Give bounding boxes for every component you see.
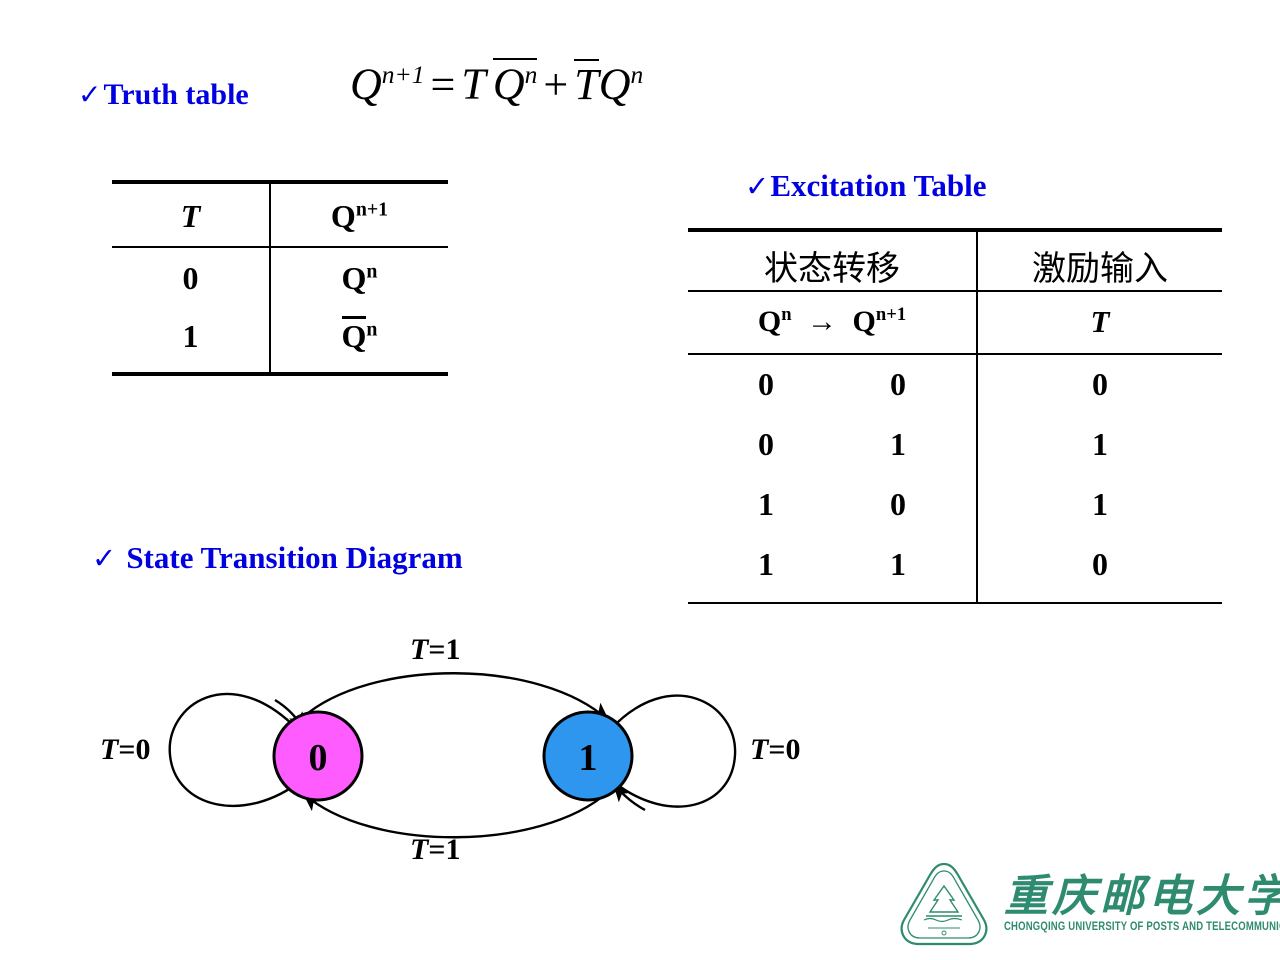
equation-term1-exponent: n xyxy=(525,60,538,89)
excitation-table-top-rule xyxy=(688,228,1222,232)
truth-table-header-qnext-base: Q xyxy=(331,198,356,234)
excitation-row-0-qnext: 0 xyxy=(838,366,958,403)
equation-term2-base: Q xyxy=(599,60,631,109)
slide-canvas: ✓Truth table Qn+1=TQn+TQn T Qn+1 0 Qn 1 … xyxy=(0,0,1280,960)
edge-label-self-loop-left: T=0 xyxy=(100,733,150,767)
truth-table-row-0-qnext-exponent: n xyxy=(366,260,377,282)
truth-table-header-qnext: Qn+1 xyxy=(271,198,448,235)
edge-label-bottom-eq: = xyxy=(428,833,445,866)
edge-label-left-var: T xyxy=(100,733,118,766)
excitation-row-2-t: 1 xyxy=(978,486,1222,523)
edge-label-self-loop-right: T=0 xyxy=(750,733,800,767)
truth-table-row-1-qnext-overline-group: Q xyxy=(342,316,367,352)
edge-label-bottom-val: 1 xyxy=(445,833,460,866)
equation-equals: = xyxy=(425,60,462,109)
excitation-row-1-qn: 0 xyxy=(706,426,826,463)
equation-plus: + xyxy=(537,60,574,109)
edge-label-top-var: T xyxy=(410,633,428,666)
equation-term1-overline-group: Qn xyxy=(493,58,538,107)
excitation-row-1-t: 1 xyxy=(978,426,1222,463)
truth-table-header-qnext-exponent: n+1 xyxy=(356,198,388,220)
excitation-table-bottom-rule xyxy=(688,602,1222,604)
edge-label-top-val: 1 xyxy=(445,633,460,666)
checkmark-icon: ✓ xyxy=(92,541,116,575)
truth-table-row-0-t: 0 xyxy=(112,260,269,297)
logo-english-name: CHONGQING UNIVERSITY OF POSTS AND TELECO… xyxy=(1004,920,1280,934)
edge-label-right-var: T xyxy=(750,733,768,766)
state-node-0-label: 0 xyxy=(309,737,328,779)
checkmark-icon: ✓ xyxy=(78,78,101,111)
checkmark-icon: ✓ xyxy=(745,169,769,203)
state-node-1-label: 1 xyxy=(579,737,598,779)
excitation-table-sub-header-rule xyxy=(688,353,1222,355)
edge-label-left-eq: = xyxy=(118,733,135,766)
excitation-row-3-t: 0 xyxy=(978,546,1222,583)
excitation-sub-to-base: Q xyxy=(853,305,876,338)
heading-excitation-table: ✓Excitation Table xyxy=(745,168,987,204)
heading-truth-table-label: Truth table xyxy=(103,78,248,111)
excitation-sub-from-base: Q xyxy=(758,305,781,338)
equation-q-next: Qn+1=TQn+TQn xyxy=(350,60,643,107)
truth-table-header-rule xyxy=(112,246,448,248)
excitation-sub-to-exponent: n+1 xyxy=(876,304,906,325)
excitation-row-0-t: 0 xyxy=(978,366,1222,403)
equation-term1-factor: T xyxy=(461,60,485,109)
edge-label-right-val: 0 xyxy=(785,733,800,766)
truth-table: T Qn+1 0 Qn 1 Qn xyxy=(112,180,448,378)
university-logo: 重庆邮电大学 CHONGQING UNIVERSITY OF POSTS AND… xyxy=(892,858,1262,956)
excitation-row-2-qnext: 0 xyxy=(838,486,958,523)
logo-emblem-icon xyxy=(892,858,996,952)
edge-label-left-val: 0 xyxy=(135,733,150,766)
truth-table-row-1-t: 1 xyxy=(112,318,269,355)
excitation-table-sub-header-transition: Qn → Qn+1 xyxy=(688,304,976,339)
excitation-table-group-header-left: 状态转移 xyxy=(688,241,976,290)
excitation-sub-from-exponent: n xyxy=(781,304,791,325)
truth-table-row-1-qnext-exponent: n xyxy=(366,318,377,340)
state-transition-diagram: 0 1 T=0 T=1 T=1 T=0 xyxy=(70,620,830,880)
heading-excitation-table-label: Excitation Table xyxy=(770,168,986,203)
excitation-row-3-qn: 1 xyxy=(706,546,826,583)
truth-table-row-0-qnext-base: Q xyxy=(342,260,367,296)
transition-arc-0-to-1 xyxy=(302,673,608,720)
equation-term1-base: Q xyxy=(493,60,525,109)
arrow-right-icon: → xyxy=(799,305,845,338)
truth-table-top-rule xyxy=(112,180,448,184)
heading-state-transition-diagram-label: State Transition Diagram xyxy=(126,540,462,575)
edge-label-bottom-var: T xyxy=(410,833,428,866)
edge-label-top-eq: = xyxy=(428,633,445,666)
excitation-table-group-header-right: 激励输入 xyxy=(978,241,1222,290)
excitation-table-sub-header-t: T xyxy=(978,304,1222,340)
excitation-row-0-qn: 0 xyxy=(706,366,826,403)
truth-table-bottom-rule xyxy=(112,372,448,376)
edge-label-right-eq: = xyxy=(768,733,785,766)
truth-table-row-0-qnext: Qn xyxy=(271,260,448,297)
excitation-row-2-qn: 1 xyxy=(706,486,826,523)
truth-table-row-1-qnext: Qn xyxy=(271,316,448,355)
equation-term2-overline-group: T xyxy=(574,59,598,107)
excitation-table: 状态转移 激励输入 Qn → Qn+1 T 0 0 0 0 1 1 1 0 1 … xyxy=(688,228,1222,606)
truth-table-header-t: T xyxy=(112,198,269,235)
edge-label-arc-bottom: T=1 xyxy=(410,833,460,867)
equation-lhs-exponent: n+1 xyxy=(382,60,425,89)
transition-arc-1-to-0 xyxy=(304,792,608,837)
heading-state-transition-diagram: ✓State Transition Diagram xyxy=(92,540,463,576)
excitation-row-3-qnext: 1 xyxy=(838,546,958,583)
equation-term2-exponent: n xyxy=(630,60,643,89)
excitation-table-group-header-rule xyxy=(688,290,1222,292)
truth-table-row-1-qnext-base: Q xyxy=(342,318,367,354)
equation-lhs-base: Q xyxy=(350,60,382,109)
heading-truth-table: ✓Truth table xyxy=(78,78,249,112)
equation-term2-factor: T xyxy=(574,60,598,109)
edge-label-arc-top: T=1 xyxy=(410,633,460,667)
excitation-row-1-qnext: 1 xyxy=(838,426,958,463)
logo-chinese-name: 重庆邮电大学 xyxy=(1004,860,1280,924)
